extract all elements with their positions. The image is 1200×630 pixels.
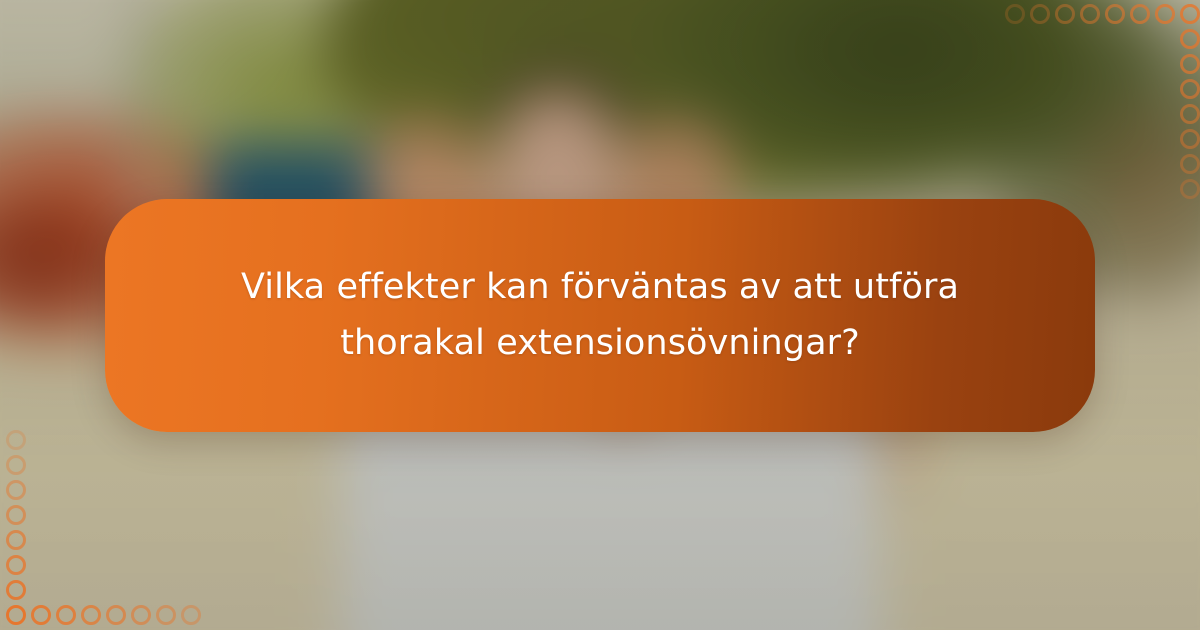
decorative-dot (6, 480, 26, 500)
decorative-dot (1155, 4, 1175, 24)
question-card: Vilka effekter kan förväntas av att utfö… (105, 199, 1095, 432)
decorative-dot (1080, 4, 1100, 24)
decorative-dot (1055, 4, 1075, 24)
decorative-dot (6, 455, 26, 475)
decorative-dot (1180, 54, 1200, 74)
decorative-dot (106, 605, 126, 625)
decorative-dot (6, 555, 26, 575)
decorative-dot (1180, 154, 1200, 174)
decorative-dot (1180, 4, 1200, 24)
decorative-dot (131, 605, 151, 625)
decorative-dot (31, 605, 51, 625)
decorative-dot (81, 605, 101, 625)
decorative-dot (6, 580, 26, 600)
decorative-dot (1180, 79, 1200, 99)
decorative-dot (6, 605, 26, 625)
decorative-dot (1130, 4, 1150, 24)
decorative-dot (1005, 4, 1025, 24)
decorative-dot (1180, 29, 1200, 49)
banner-canvas: Vilka effekter kan förväntas av att utfö… (0, 0, 1200, 630)
decorative-dot (156, 605, 176, 625)
decorative-dot (1180, 179, 1200, 199)
decorative-dot (1030, 4, 1050, 24)
decorative-dot (6, 505, 26, 525)
decorative-dot (6, 430, 26, 450)
question-text: Vilka effekter kan förväntas av att utfö… (220, 260, 980, 371)
decorative-dot (181, 605, 201, 625)
dot-grid-bottom-left (0, 425, 205, 630)
decorative-dot (1180, 129, 1200, 149)
dot-grid-top-right (1000, 0, 1200, 210)
decorative-dot (56, 605, 76, 625)
decorative-dot (1105, 4, 1125, 24)
decorative-dot (6, 530, 26, 550)
decorative-dot (1180, 104, 1200, 124)
